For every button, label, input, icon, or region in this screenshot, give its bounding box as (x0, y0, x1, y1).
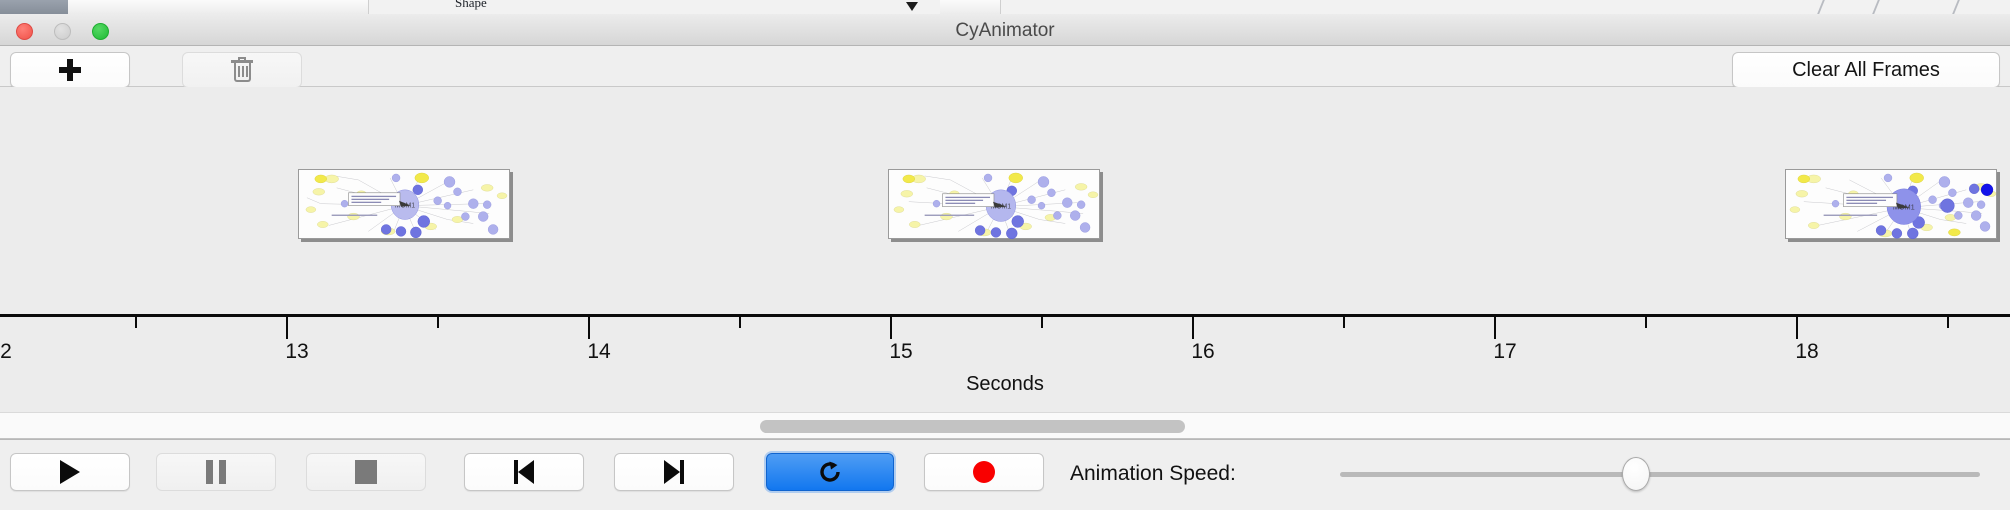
axis-tick-major (286, 317, 288, 339)
stop-icon (355, 460, 377, 484)
timeline-panel[interactable]: MCM1 (0, 87, 2010, 412)
axis-tick-minor (437, 317, 439, 328)
slider-track (1340, 472, 1980, 477)
bg-tab (186, 0, 249, 14)
skip-back-icon (512, 460, 536, 484)
bg-window-label: Shape (455, 0, 487, 11)
playback-control-bar: Animation Speed: (0, 439, 2010, 510)
axis-tick-label: 14 (587, 340, 610, 364)
background-window-strip: Shape (0, 0, 2010, 14)
bg-decoration (1952, 0, 1960, 14)
bg-arrow-icon (906, 2, 918, 11)
timeline-horizontal-scrollbar[interactable] (0, 412, 2010, 439)
timeline-frame-thumbnail[interactable]: MCM1 (888, 169, 1100, 239)
axis-tick-minor (1645, 317, 1647, 328)
bg-decoration (1872, 0, 1880, 14)
slider-thumb[interactable] (1622, 457, 1650, 491)
bg-tab (68, 0, 149, 14)
bg-tab-selected (0, 0, 69, 14)
timeline-frame-thumbnail[interactable]: MCM1 (1785, 169, 1997, 239)
bg-tab (148, 0, 187, 14)
bg-tab (248, 0, 301, 14)
bg-decoration (1817, 0, 1825, 14)
axis-tick-label: 15 (889, 340, 912, 364)
plus-icon (58, 58, 82, 82)
clear-all-frames-button[interactable]: Clear All Frames (1732, 52, 2000, 88)
animation-speed-slider[interactable] (1340, 470, 1980, 478)
axis-tick-label: 2 (0, 340, 12, 364)
delete-frame-button[interactable] (182, 52, 302, 88)
record-icon (973, 461, 995, 483)
timeline-axis (0, 314, 2010, 317)
pause-button[interactable] (156, 453, 276, 491)
titlebar: CyAnimator (0, 14, 2010, 46)
network-thumbnail-graphic: MCM1 (889, 170, 1099, 239)
trash-icon (231, 57, 253, 83)
axis-tick-minor (1041, 317, 1043, 328)
axis-tick-label: 16 (1191, 340, 1214, 364)
axis-tick-minor (135, 317, 137, 328)
pause-icon (206, 460, 226, 484)
loop-icon (817, 459, 843, 485)
record-button[interactable] (924, 453, 1044, 491)
toolbar: Clear All Frames (0, 46, 2010, 87)
axis-title: Seconds (0, 373, 2010, 396)
axis-tick-major (890, 317, 892, 339)
add-frame-button[interactable] (10, 52, 130, 88)
skip-to-start-button[interactable] (464, 453, 584, 491)
network-thumbnail-graphic: MCM1 (1786, 170, 1996, 239)
loop-button[interactable] (766, 453, 894, 491)
axis-tick-label: 13 (285, 340, 308, 364)
axis-tick-major (1494, 317, 1496, 339)
axis-tick-minor (1947, 317, 1949, 328)
window-title: CyAnimator (0, 20, 2010, 42)
clear-all-frames-label: Clear All Frames (1792, 59, 1940, 82)
axis-tick-label: 17 (1493, 340, 1516, 364)
bg-tab (300, 0, 369, 14)
play-icon (60, 460, 80, 484)
axis-tick-minor (1343, 317, 1345, 328)
bg-tab (970, 0, 1001, 14)
play-button[interactable] (10, 453, 130, 491)
timeline-frame-thumbnail[interactable]: MCM1 (298, 169, 510, 239)
stop-button[interactable] (306, 453, 426, 491)
axis-tick-label: 18 (1795, 340, 1818, 364)
axis-tick-major (588, 317, 590, 339)
axis-tick-major (1192, 317, 1194, 339)
network-thumbnail-graphic: MCM1 (299, 170, 509, 239)
axis-tick-minor (739, 317, 741, 328)
cyanimator-window: Shape CyAnimator Clear All Frames (0, 0, 2010, 510)
skip-to-end-button[interactable] (614, 453, 734, 491)
axis-tick-major (1796, 317, 1798, 339)
bg-tab (940, 0, 971, 14)
skip-forward-icon (662, 460, 686, 484)
scrollbar-thumb[interactable] (760, 420, 1185, 433)
animation-speed-label: Animation Speed: (1070, 462, 1236, 486)
